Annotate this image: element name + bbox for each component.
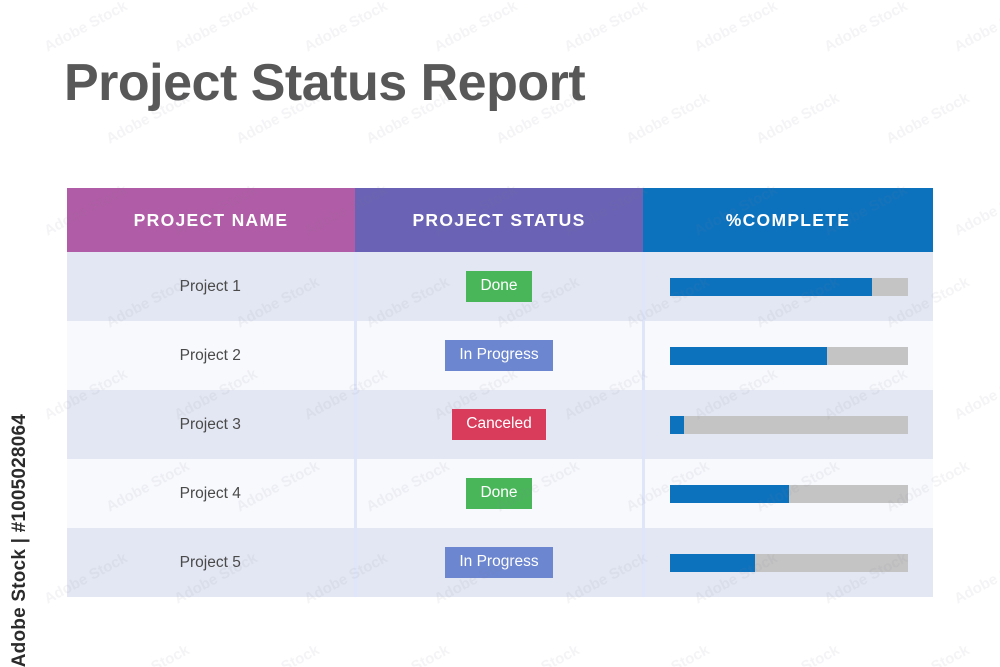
status-badge: Done (466, 478, 531, 509)
cell-project-status: In Progress (355, 528, 643, 597)
table-row: Project 3 Canceled (67, 390, 933, 459)
progress-bar-fill (670, 278, 872, 296)
cell-percent-complete (643, 252, 933, 321)
project-status-table: PROJECT NAME PROJECT STATUS %COMPLETE Pr… (67, 188, 933, 597)
progress-bar-fill (670, 416, 684, 434)
column-header-percent-complete: %COMPLETE (643, 188, 933, 252)
table-row: Project 2 In Progress (67, 321, 933, 390)
cell-project-name: Project 2 (67, 321, 355, 390)
cell-percent-complete (643, 321, 933, 390)
cell-project-name: Project 1 (67, 252, 355, 321)
progress-bar-track (670, 347, 908, 365)
page-title: Project Status Report (64, 56, 585, 111)
progress-bar-track (670, 278, 908, 296)
status-badge: In Progress (445, 340, 552, 371)
cell-percent-complete (643, 390, 933, 459)
table-header-row: PROJECT NAME PROJECT STATUS %COMPLETE (67, 188, 933, 252)
progress-bar-fill (670, 347, 827, 365)
progress-bar-track (670, 416, 908, 434)
cell-project-status: Canceled (355, 390, 643, 459)
cell-project-name: Project 3 (67, 390, 355, 459)
column-header-project-status: PROJECT STATUS (355, 188, 643, 252)
cell-project-status: In Progress (355, 321, 643, 390)
table-row: Project 5 In Progress (67, 528, 933, 597)
table-header: PROJECT NAME PROJECT STATUS %COMPLETE (67, 188, 933, 252)
report-page: Project Status Report PROJECT NAME PROJE… (0, 0, 1000, 667)
status-badge: Done (466, 271, 531, 302)
table-body: Project 1 Done Project 2 In Progress (67, 252, 933, 597)
table-row: Project 4 Done (67, 459, 933, 528)
cell-project-name: Project 5 (67, 528, 355, 597)
table-row: Project 1 Done (67, 252, 933, 321)
progress-bar-track (670, 485, 908, 503)
cell-percent-complete (643, 528, 933, 597)
progress-bar-fill (670, 485, 789, 503)
status-badge: In Progress (445, 547, 552, 578)
cell-project-status: Done (355, 252, 643, 321)
cell-project-name: Project 4 (67, 459, 355, 528)
cell-percent-complete (643, 459, 933, 528)
progress-bar-fill (670, 554, 756, 572)
status-badge: Canceled (452, 409, 546, 440)
column-header-project-name: PROJECT NAME (67, 188, 355, 252)
cell-project-status: Done (355, 459, 643, 528)
progress-bar-track (670, 554, 908, 572)
